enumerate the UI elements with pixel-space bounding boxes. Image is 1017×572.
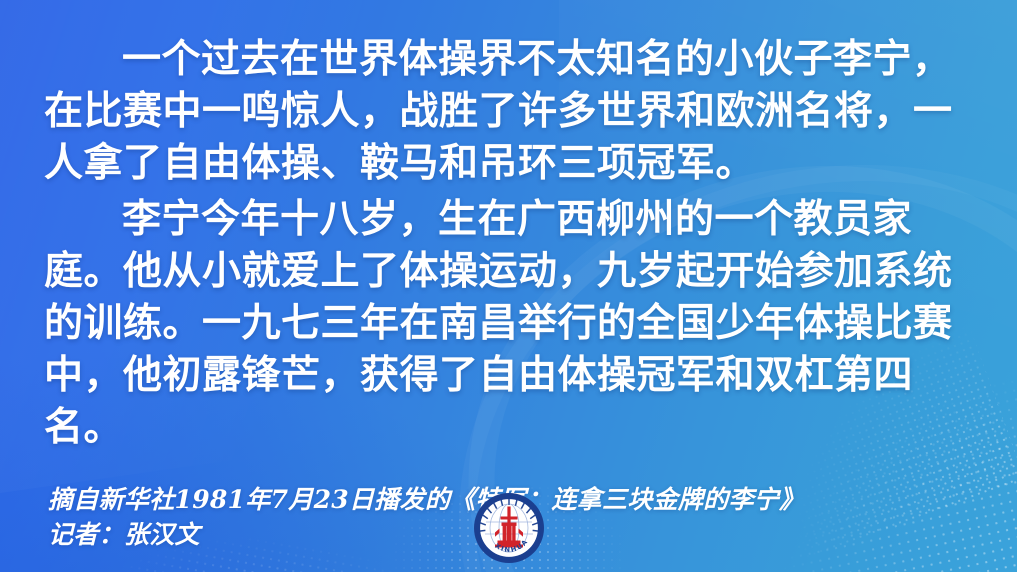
article-body: 一个过去在世界体操界不太知名的小伙子李宁，在比赛中一鸣惊人，战胜了许多世界和欧洲… xyxy=(0,0,1017,454)
paragraph-1: 一个过去在世界体操界不太知名的小伙子李宁，在比赛中一鸣惊人，战胜了许多世界和欧洲… xyxy=(44,34,973,190)
news-quote-card: 一个过去在世界体操界不太知名的小伙子李宁，在比赛中一鸣惊人，战胜了许多世界和欧洲… xyxy=(0,0,1017,572)
xinhua-logo: XINHUA xyxy=(473,492,545,564)
paragraph-2: 李宁今年十八岁，生在广西柳州的一个教员家庭。他从小就爱上了体操运动，九岁起开始参… xyxy=(44,194,973,454)
